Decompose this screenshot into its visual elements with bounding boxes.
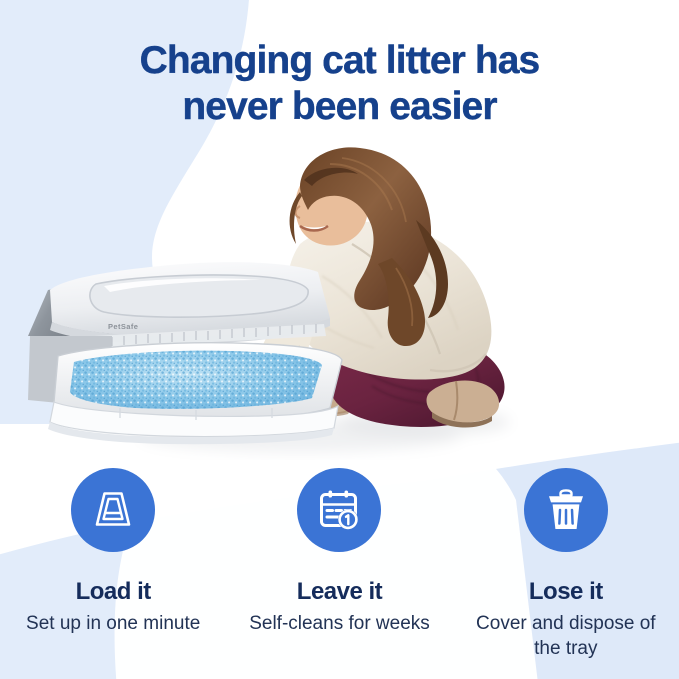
calendar-one-icon xyxy=(316,487,362,533)
product-infographic: Changing cat litter has never been easie… xyxy=(0,0,679,679)
feature-icon-circle-lose[interactable] xyxy=(524,468,608,552)
feature-icon-circle-leave[interactable] xyxy=(297,468,381,552)
hero-photo: Woman kneeling and sliding a disposable … xyxy=(0,140,679,460)
feature-load-it[interactable]: Load it Set up in one minute xyxy=(0,468,226,668)
feature-leave-it[interactable]: Leave it Self-cleans for weeks xyxy=(226,468,452,668)
trash-can-icon xyxy=(544,487,588,533)
feature-desc-leave: Self-cleans for weeks xyxy=(249,611,430,636)
litter-tray-icon xyxy=(90,487,136,533)
feature-lose-it[interactable]: Lose it Cover and dispose of the tray xyxy=(453,468,679,668)
feature-icon-circle-load[interactable] xyxy=(71,468,155,552)
feature-desc-load: Set up in one minute xyxy=(26,611,200,636)
product-brand-label: PetSafe xyxy=(108,322,138,331)
feature-desc-lose: Cover and dispose of the tray xyxy=(463,611,668,661)
feature-title-load: Load it xyxy=(76,579,151,605)
feature-title-leave: Leave it xyxy=(297,579,382,605)
feature-title-lose: Lose it xyxy=(529,579,603,605)
litter-crystal-specks xyxy=(70,351,322,409)
litter-box-product: PetSafe xyxy=(28,262,342,444)
feature-list: Load it Set up in one minute xyxy=(0,468,679,668)
